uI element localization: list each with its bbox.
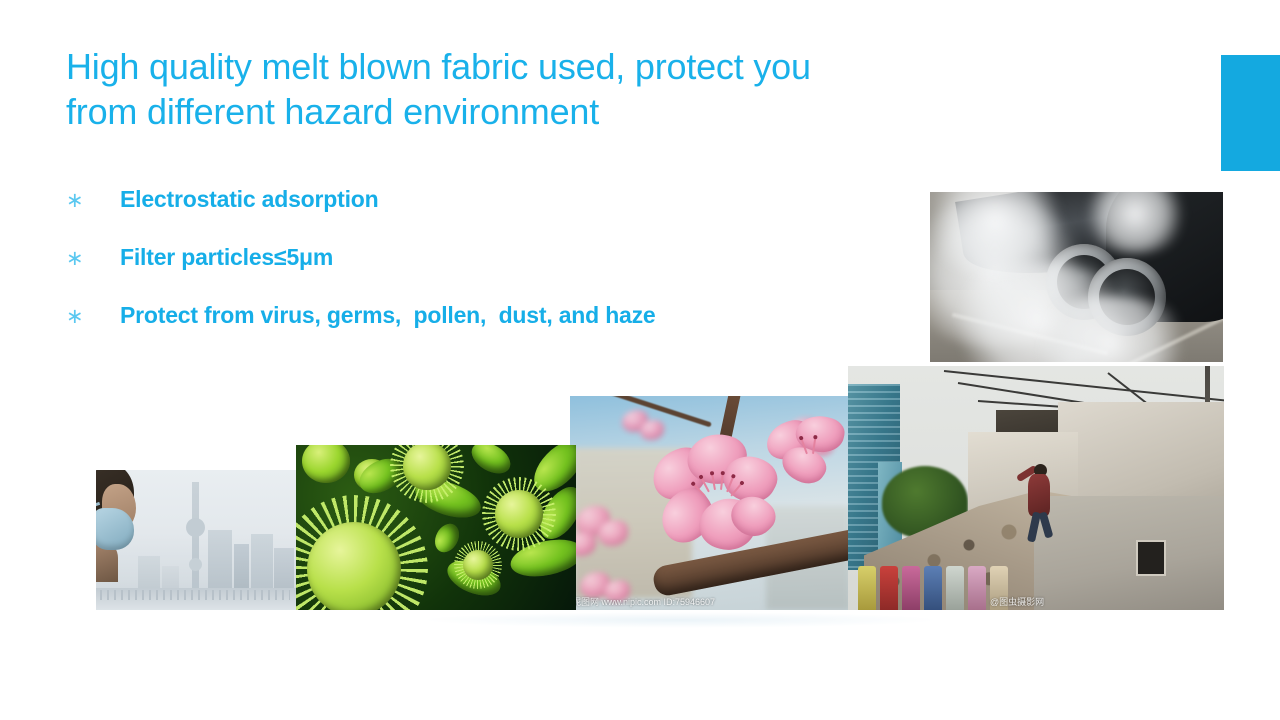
blossom-photo-content: 昵图网 www.nipic.com ID:75946607 [570,396,848,610]
asterisk-icon: ∗ [66,303,120,331]
laundry-item [990,566,1008,610]
tower-sphere-upper [186,518,205,537]
laundry-item [924,566,942,610]
wall-window [1138,542,1164,574]
person-torso [1028,474,1050,516]
list-item: ∗ Electrostatic adsorption [66,185,966,243]
laundry-item [858,566,876,610]
laundry-item [902,566,920,610]
car-exhaust-smoke-photo [930,192,1223,362]
laundry-item [968,566,986,610]
smog-photo-content [96,470,296,610]
green-microbes-photo [296,445,576,610]
demolition-rubble-photo: @图虫摄影网 [848,366,1224,610]
waterfront-bridge [96,588,296,610]
list-item: ∗ Filter particles≤5μm [66,243,966,301]
tower-sphere-lower [189,558,202,571]
asterisk-icon: ∗ [66,245,120,273]
accent-bar-decoration [1221,55,1280,171]
page-title: High quality melt blown fabric used, pro… [66,44,1066,134]
list-item: ∗ Protect from virus, germs, pollen, dus… [66,301,966,359]
bullet-label-protect-from-hazards: Protect from virus, germs, pollen, dust,… [120,301,656,329]
standing-front-wall [1034,496,1224,610]
laundry-item [880,566,898,610]
bullet-label-filter-particles: Filter particles≤5μm [120,243,333,271]
bullet-list: ∗ Electrostatic adsorption ∗ Filter part… [66,185,966,359]
hanging-laundry-group [858,564,1008,610]
bullet-label-electrostatic-adsorption: Electrostatic adsorption [120,185,378,213]
spiky-virus [482,477,556,551]
surgical-mask [96,508,134,550]
spiky-virus [454,541,502,589]
smog-city-masked-person-photo [96,470,296,610]
rubble-photo-content: @图虫摄影网 [848,366,1224,610]
virus-core [495,490,542,537]
soft-shadow-decoration [420,612,940,628]
virus-core [403,445,450,490]
cherry-blossom-photo: 昵图网 www.nipic.com ID:75946607 [570,396,848,610]
oriental-pearl-tower [192,482,199,600]
virus-core [307,522,402,610]
asterisk-icon: ∗ [66,187,120,215]
germs-photo-content [296,445,576,610]
slide-canvas: High quality melt blown fabric used, pro… [0,0,1280,720]
laundry-item [946,566,964,610]
exhaust-photo-content [930,192,1223,362]
